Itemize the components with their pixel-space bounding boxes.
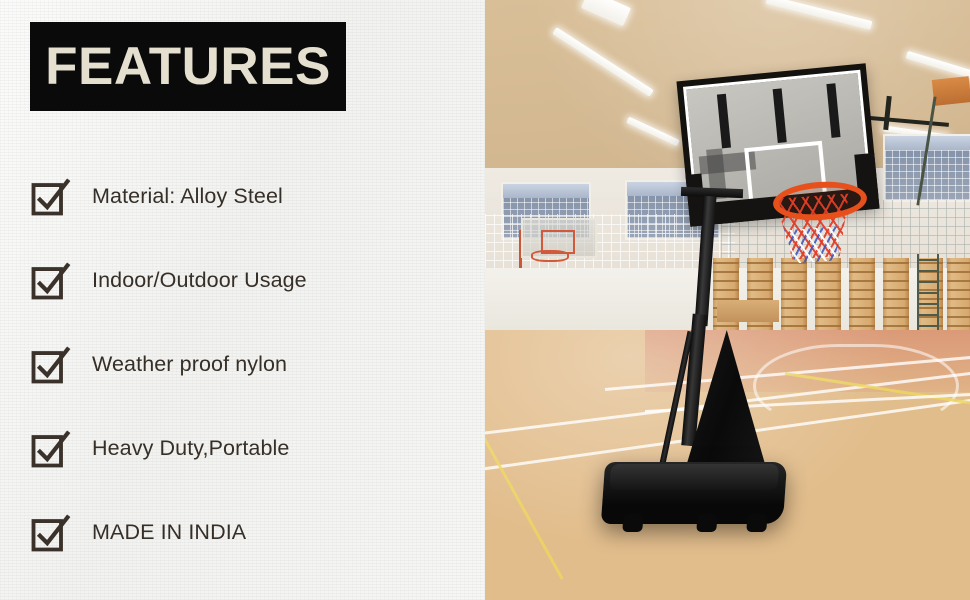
base-wheel — [696, 514, 717, 532]
checkbox-checked-icon — [28, 511, 72, 555]
gym-bench — [717, 300, 779, 322]
checkbox-checked-icon — [28, 175, 72, 219]
list-item: Material: Alloy Steel — [0, 155, 485, 239]
feature-label: Indoor/Outdoor Usage — [92, 269, 307, 293]
product-photo — [485, 0, 970, 600]
ladder — [917, 254, 939, 338]
checkbox-checked-icon — [28, 259, 72, 303]
background-wall-hoop — [932, 76, 970, 106]
list-item: MADE IN INDIA — [0, 491, 485, 575]
feature-label: MADE IN INDIA — [92, 521, 246, 545]
features-panel: FEATURES Material: Alloy Steel — [0, 0, 485, 600]
list-item: Heavy Duty,Portable — [0, 407, 485, 491]
list-item: Indoor/Outdoor Usage — [0, 239, 485, 323]
feature-list: Material: Alloy Steel Indoor/Outdoor Usa… — [0, 155, 485, 575]
feature-label: Heavy Duty,Portable — [92, 437, 289, 461]
product-feature-banner: FEATURES Material: Alloy Steel — [0, 0, 970, 600]
feature-label: Material: Alloy Steel — [92, 185, 283, 209]
portable-wheeled-base — [601, 462, 787, 524]
feature-label: Weather proof nylon — [92, 353, 287, 377]
list-item: Weather proof nylon — [0, 323, 485, 407]
features-title-banner: FEATURES — [30, 22, 346, 111]
base-wheel — [622, 514, 643, 532]
base-wheel — [746, 514, 767, 532]
checkbox-checked-icon — [28, 427, 72, 471]
background-rim — [531, 250, 569, 262]
page-title: FEATURES — [45, 40, 331, 93]
checkbox-checked-icon — [28, 343, 72, 387]
